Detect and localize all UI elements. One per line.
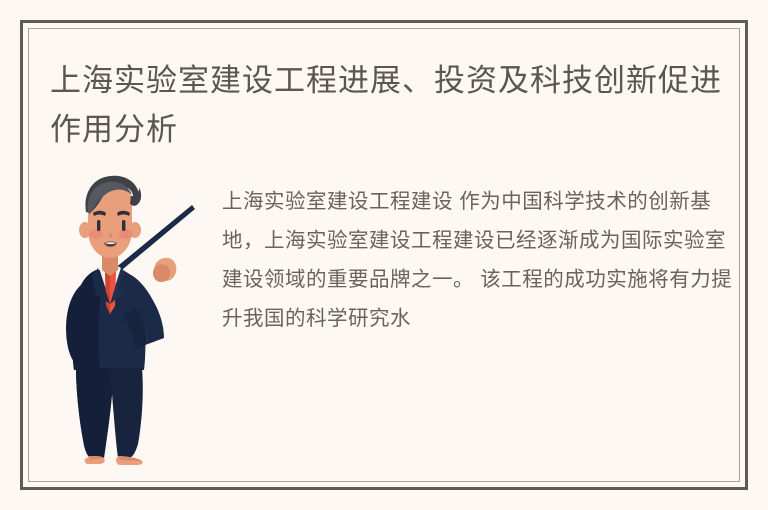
cheek-right: [119, 229, 133, 239]
eye-right: [122, 220, 125, 231]
page-root: 上海实验室建设工程进展、投资及科技创新促进作用分析: [0, 0, 768, 510]
illustration-businessman-with-pointer: [52, 172, 202, 472]
article-body-text: 上海实验室建设工程建设 作为中国科学技术的创新基地，上海实验室建设工程建设已经逐…: [222, 182, 738, 338]
businessman-illustration-svg: [52, 172, 202, 472]
cheek-left: [89, 229, 103, 239]
feet: [85, 456, 143, 465]
trousers-and-legs: [76, 368, 143, 458]
head: [79, 176, 141, 258]
page-title: 上海实验室建设工程进展、投资及科技创新促进作用分析: [50, 56, 740, 154]
eye-left: [97, 220, 100, 231]
